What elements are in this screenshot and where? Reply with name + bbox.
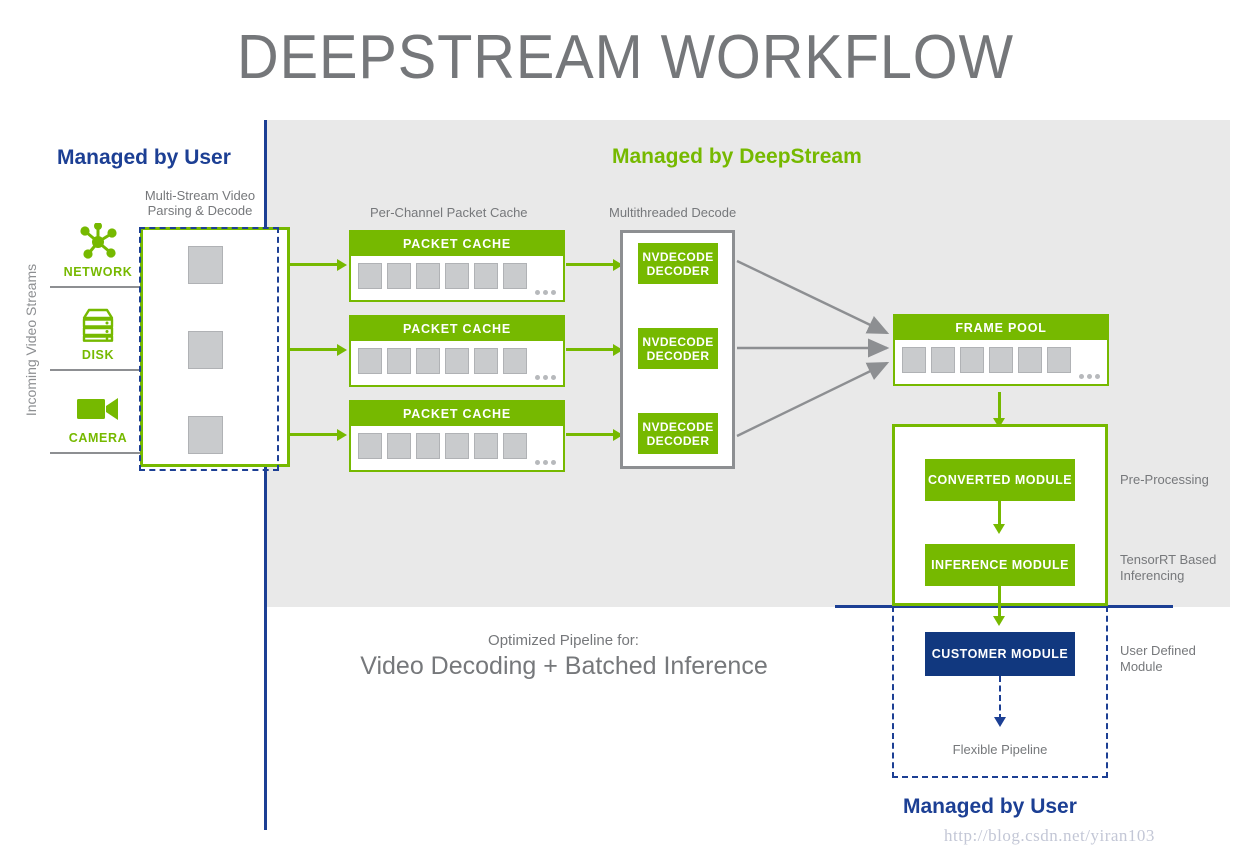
- packet-cache-title: PACKET CACHE: [351, 232, 563, 256]
- packet-chip: [445, 263, 469, 289]
- packet-chip: [445, 348, 469, 374]
- packet-chip-row: [358, 348, 556, 374]
- incoming-video-streams-label: Incoming Video Streams: [23, 245, 39, 435]
- note-pre-processing: Pre-Processing: [1120, 472, 1209, 488]
- flow-arrow-customer-to-pipeline: [999, 676, 1001, 720]
- disk-icon: [50, 305, 146, 345]
- parsing-caption: Multi-Stream Video Parsing & Decode: [120, 188, 280, 218]
- frame-chip: [989, 347, 1013, 373]
- flow-arrow-cache-to-decoder-1: [566, 263, 614, 266]
- flow-arrow-cache-to-decoder-2: [566, 348, 614, 351]
- source-network: NETWORK: [50, 222, 146, 288]
- watermark: http://blog.csdn.net/yiran103: [944, 826, 1155, 846]
- page-title: DEEPSTREAM WORKFLOW: [44, 22, 1207, 93]
- source-label-camera: CAMERA: [50, 431, 146, 445]
- parse-chip: [188, 246, 223, 284]
- packet-chip: [445, 433, 469, 459]
- packet-cache-3: PACKET CACHE: [349, 400, 565, 472]
- frame-chip: [1047, 347, 1071, 373]
- packet-cache-body: [351, 256, 563, 300]
- packet-chip: [474, 263, 498, 289]
- note-userdef-line2: Module: [1120, 659, 1196, 675]
- note-userdef-line1: User Defined: [1120, 643, 1196, 659]
- decoder-line1: NVDECODE: [642, 250, 713, 264]
- frame-chip: [902, 347, 926, 373]
- packet-chip: [358, 263, 382, 289]
- source-label-disk: DISK: [50, 348, 146, 362]
- packet-chip: [358, 348, 382, 374]
- decoder-line2: DECODER: [647, 264, 710, 278]
- flow-arrow-converted-to-inference: [998, 501, 1001, 526]
- nvdecode-decoder-3: NVDECODE DECODER: [638, 413, 718, 454]
- packet-chip: [503, 348, 527, 374]
- nvdecode-decoder-2: NVDECODE DECODER: [638, 328, 718, 369]
- nvdecode-decoder-1: NVDECODE DECODER: [638, 243, 718, 284]
- note-tensorrt-line1: TensorRT Based: [1120, 552, 1216, 568]
- summary-caption: Optimized Pipeline for:: [370, 632, 757, 649]
- zone-heading-managed-by-deepstream: Managed by DeepStream: [612, 145, 862, 169]
- packet-chip: [416, 263, 440, 289]
- parsing-caption-line1: Multi-Stream Video: [120, 188, 280, 203]
- packet-chip: [387, 263, 411, 289]
- packet-chip: [503, 433, 527, 459]
- parsing-caption-line2: Parsing & Decode: [120, 203, 280, 218]
- flow-arrow-parse-to-cache-1: [290, 263, 338, 266]
- frame-chip-row: [902, 347, 1100, 373]
- source-disk: DISK: [50, 305, 146, 371]
- source-rule: [50, 286, 146, 288]
- packet-chip: [387, 348, 411, 374]
- source-rule: [50, 452, 146, 454]
- packet-cache-title: PACKET CACHE: [351, 317, 563, 341]
- ellipsis-dots: [535, 375, 556, 380]
- packet-chip: [474, 348, 498, 374]
- flow-arrow-parse-to-cache-3: [290, 433, 338, 436]
- ellipsis-dots: [535, 290, 556, 295]
- zone-heading-managed-by-user-bottom: Managed by User: [903, 795, 1077, 819]
- packet-cache-body: [351, 426, 563, 470]
- packet-cache-2: PACKET CACHE: [349, 315, 565, 387]
- packet-chip: [474, 433, 498, 459]
- packet-chip-row: [358, 263, 556, 289]
- converted-module: CONVERTED MODULE: [925, 459, 1075, 501]
- flow-arrow-framepool-to-preproc: [998, 392, 1001, 420]
- decoder-line2: DECODER: [647, 434, 710, 448]
- source-rule: [50, 369, 146, 371]
- flow-arrowhead-customer: [994, 717, 1006, 727]
- note-user-defined-module: User Defined Module: [1120, 643, 1196, 675]
- zone-heading-managed-by-user-top: Managed by User: [57, 146, 231, 170]
- summary-headline: Video Decoding + Batched Inference: [315, 652, 813, 681]
- note-tensorrt: TensorRT Based Inferencing: [1120, 552, 1216, 584]
- packet-cache-title: PACKET CACHE: [351, 402, 563, 426]
- note-tensorrt-line2: Inferencing: [1120, 568, 1216, 584]
- inference-module: INFERENCE MODULE: [925, 544, 1075, 586]
- packet-cache-1: PACKET CACHE: [349, 230, 565, 302]
- packet-cache-caption: Per-Channel Packet Cache: [370, 205, 528, 220]
- frame-pool-title: FRAME POOL: [895, 316, 1107, 340]
- packet-cache-body: [351, 341, 563, 385]
- ellipsis-dots: [535, 460, 556, 465]
- source-label-network: NETWORK: [50, 265, 146, 279]
- packet-chip-row: [358, 433, 556, 459]
- frame-pool-body: [895, 340, 1107, 384]
- flow-arrow-cache-to-decoder-3: [566, 433, 614, 436]
- source-camera: CAMERA: [50, 388, 146, 454]
- frame-chip: [960, 347, 984, 373]
- packet-chip: [416, 433, 440, 459]
- decoder-line2: DECODER: [647, 349, 710, 363]
- parse-chip: [188, 416, 223, 454]
- frame-pool: FRAME POOL: [893, 314, 1109, 386]
- packet-chip: [416, 348, 440, 374]
- flexible-pipeline-caption: Flexible Pipeline: [892, 742, 1108, 757]
- decoder-to-frame-pool-arrows: [735, 255, 900, 455]
- multithreaded-decode-caption: Multithreaded Decode: [609, 205, 736, 220]
- network-icon: [50, 222, 146, 262]
- frame-chip: [1018, 347, 1042, 373]
- customer-module: CUSTOMER MODULE: [925, 632, 1075, 676]
- frame-chip: [931, 347, 955, 373]
- flow-arrow-parse-to-cache-2: [290, 348, 338, 351]
- packet-chip: [387, 433, 411, 459]
- packet-chip: [503, 263, 527, 289]
- ellipsis-dots: [1079, 374, 1100, 379]
- packet-chip: [358, 433, 382, 459]
- decoder-line1: NVDECODE: [642, 420, 713, 434]
- decoder-line1: NVDECODE: [642, 335, 713, 349]
- parse-chip: [188, 331, 223, 369]
- flow-arrowhead-converted: [993, 524, 1005, 534]
- camera-icon: [50, 388, 146, 428]
